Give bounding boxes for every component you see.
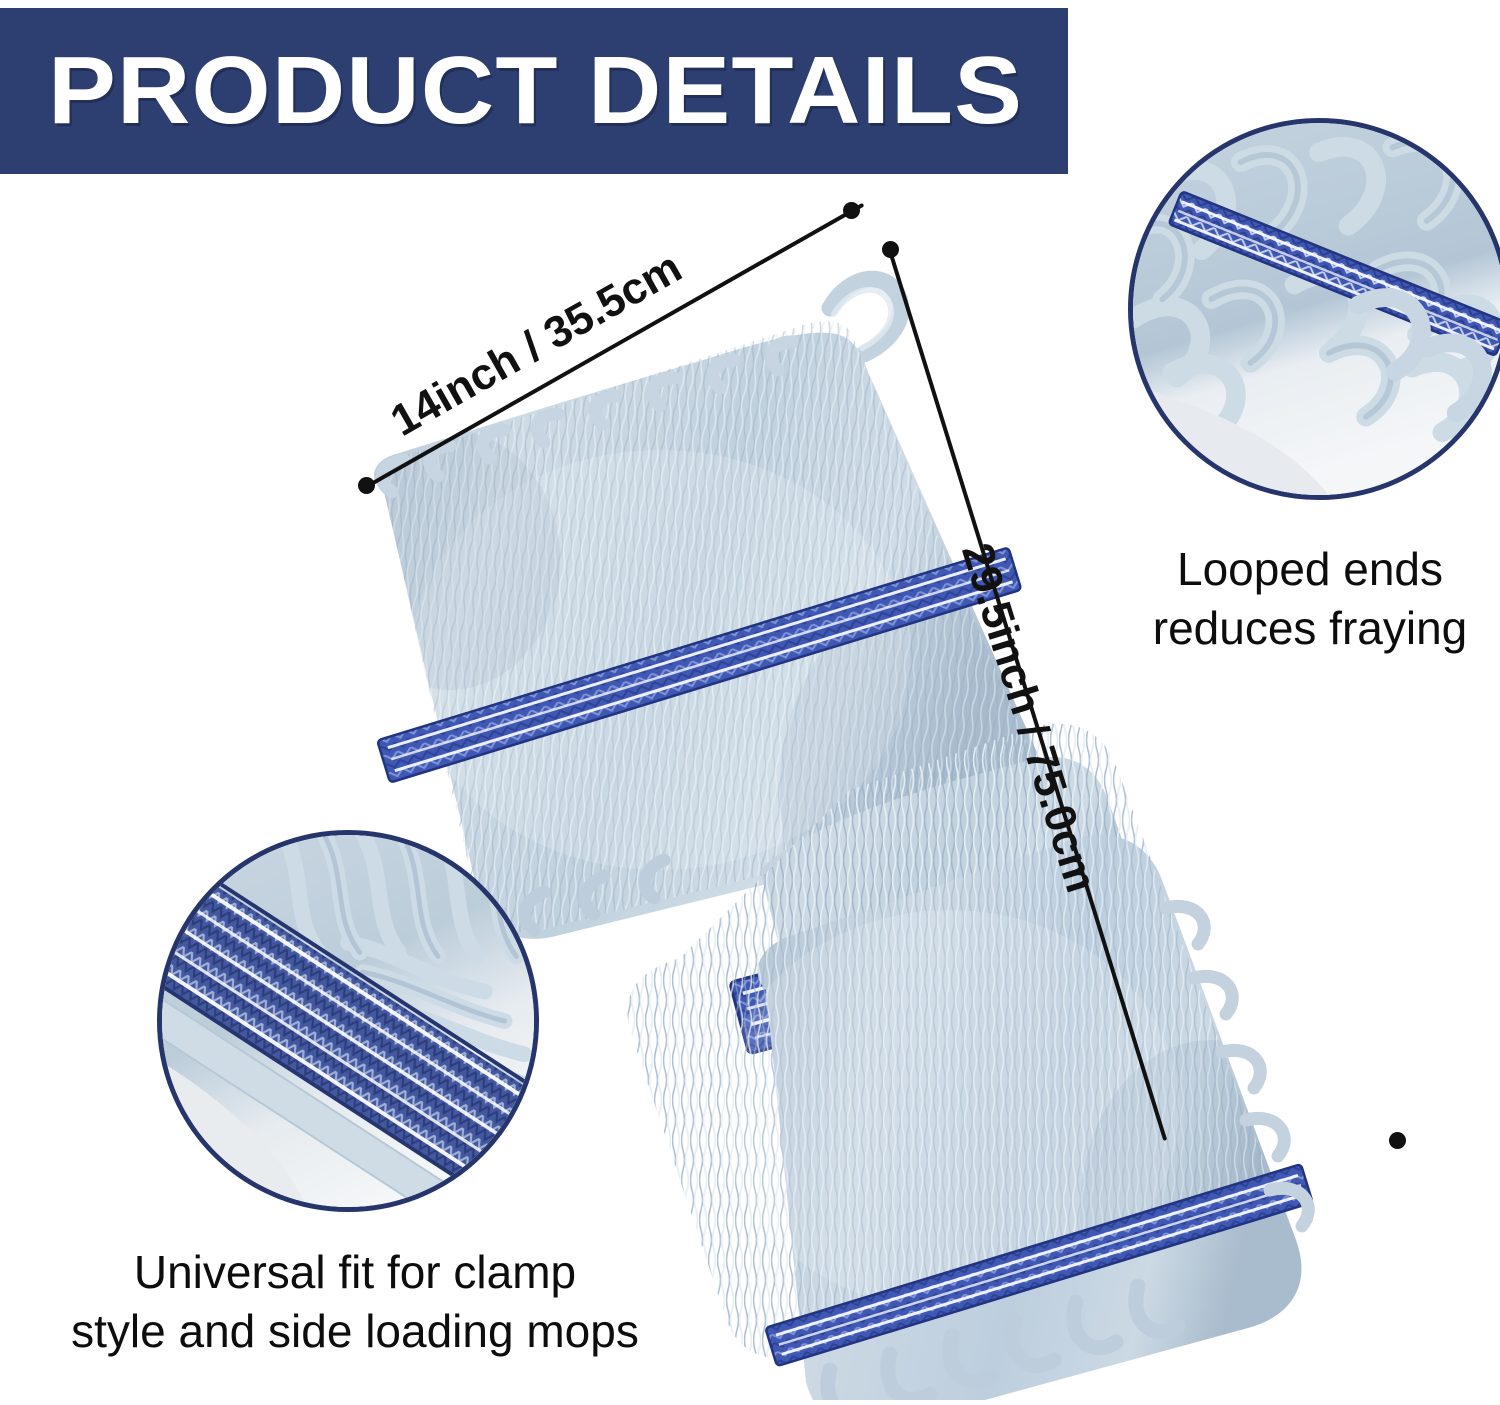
dimension-width-endpoint-left (358, 477, 375, 494)
product-details-infographic: PRODUCT DETAILS (0, 0, 1500, 1405)
dimension-length-endpoint-bottom (1389, 1132, 1406, 1149)
dimension-width-endpoint-right (843, 202, 860, 219)
dimension-length-endpoint-top (882, 241, 899, 258)
header-banner: PRODUCT DETAILS (0, 8, 1068, 174)
inset-headband (157, 830, 539, 1212)
page-title: PRODUCT DETAILS (48, 43, 1023, 139)
inset-looped-ends (1128, 118, 1500, 500)
inset-looped-ends-caption: Looped ends reduces fraying (1115, 540, 1500, 658)
inset-headband-caption: Universal fit for clamp style and side l… (35, 1243, 675, 1361)
